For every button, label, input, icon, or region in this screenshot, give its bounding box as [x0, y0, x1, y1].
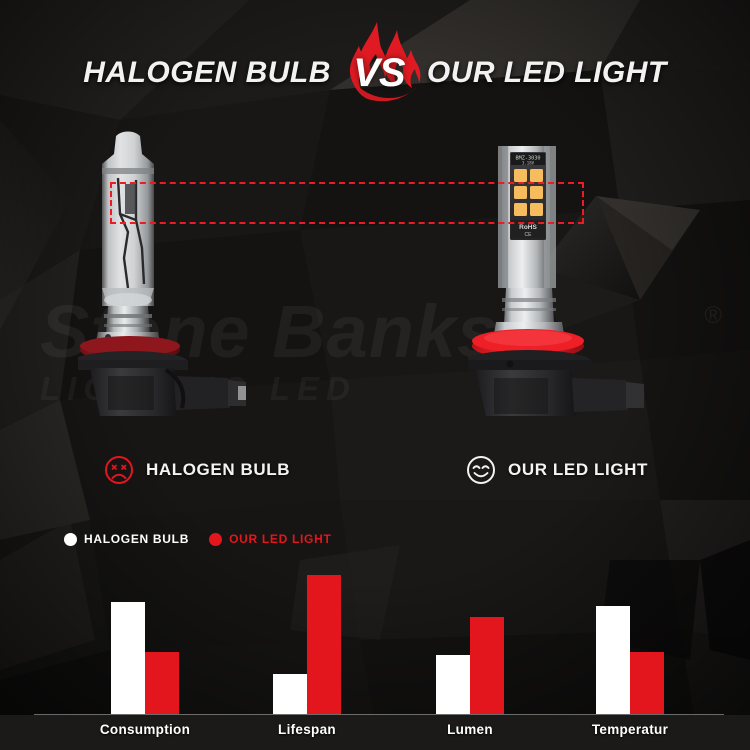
bar-group-consumption: [111, 560, 179, 714]
vs-badge: VS: [331, 34, 427, 112]
legend-dot-halogen: [64, 533, 77, 546]
bar-lumen-halogen: [436, 655, 470, 714]
compare-label-row: HALOGEN BULB OUR LED LIGHT: [0, 455, 750, 489]
legend-item-led: OUR LED LIGHT: [209, 532, 331, 546]
bar-lifespan-led: [307, 575, 341, 714]
legend-label-halogen: HALOGEN BULB: [84, 532, 189, 546]
infographic-root: HALOGEN BULB VS OUR LED LIGHT Stone Bank…: [0, 0, 750, 750]
bar-consumption-halogen: [111, 602, 145, 714]
chart-legend: HALOGEN BULB OUR LED LIGHT: [64, 532, 332, 546]
chart-category-labels: ConsumptionLifespanLumenTemperatur: [0, 722, 750, 744]
sad-face-icon: [104, 455, 134, 485]
compare-item-halogen: HALOGEN BULB: [104, 455, 290, 485]
svg-text:CE: CE: [525, 232, 533, 238]
bar-group-lifespan: [273, 560, 341, 714]
legend-item-halogen: HALOGEN BULB: [64, 532, 189, 546]
legend-label-led: OUR LED LIGHT: [229, 532, 331, 546]
bar-lifespan-halogen: [273, 674, 307, 714]
compare-label-halogen: HALOGEN BULB: [146, 460, 290, 480]
bar-temperatur-halogen: [596, 606, 630, 714]
happy-face-icon: [466, 455, 496, 485]
header-left-title: HALOGEN BULB: [83, 56, 331, 90]
compare-item-led: OUR LED LIGHT: [466, 455, 648, 485]
alignment-dashed-box: [110, 182, 584, 224]
vs-label: VS: [353, 51, 404, 96]
svg-text:RoHS: RoHS: [519, 224, 537, 231]
bar-group-temperatur: [596, 560, 664, 714]
legend-dot-led: [209, 533, 222, 546]
compare-label-led: OUR LED LIGHT: [508, 460, 648, 480]
halogen-bulb-image: [78, 128, 278, 418]
bar-group-lumen: [436, 560, 504, 714]
bar-temperatur-led: [630, 652, 664, 714]
comparison-bar-chart: [0, 560, 750, 715]
header-right-title: OUR LED LIGHT: [427, 56, 667, 90]
bar-lumen-led: [470, 617, 504, 714]
led-bulb-image: BMZ-3030 3.18V RoHS CE: [468, 128, 678, 418]
svg-text:3.18V: 3.18V: [522, 161, 535, 166]
header-title-row: HALOGEN BULB VS OUR LED LIGHT: [0, 42, 750, 104]
category-label-temperatur: Temperatur: [592, 722, 668, 737]
category-label-lifespan: Lifespan: [278, 722, 336, 737]
category-label-consumption: Consumption: [100, 722, 190, 737]
bar-consumption-led: [145, 652, 179, 714]
category-label-lumen: Lumen: [447, 722, 493, 737]
